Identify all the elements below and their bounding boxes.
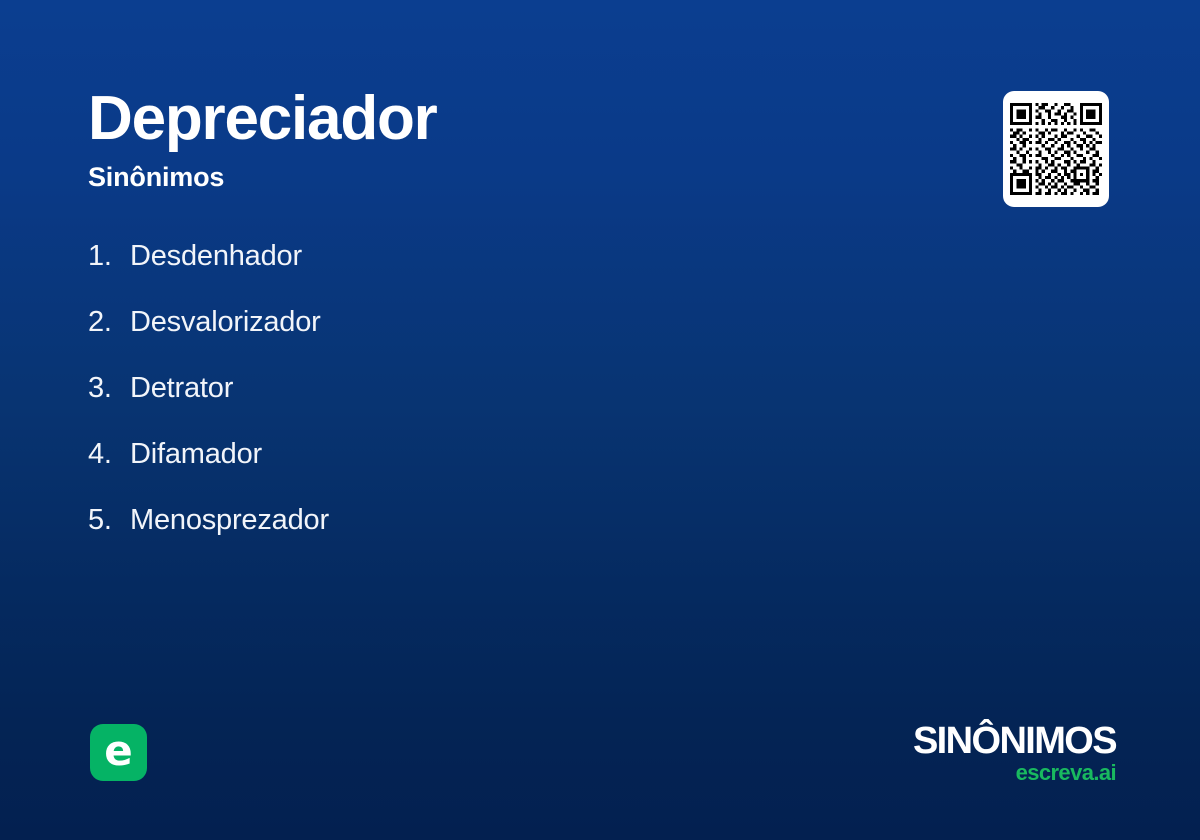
brand-logo-main: SINÔNIMOS	[913, 722, 1116, 760]
list-item-index: 4.	[88, 434, 130, 474]
page-title: Depreciador	[88, 88, 948, 150]
list-item-word: Difamador	[130, 434, 262, 474]
list-item: 2. Desvalorizador	[88, 302, 968, 368]
page-subtitle: Sinônimos	[88, 164, 948, 191]
brand-logo: SINÔNIMOS escreva.ai	[913, 722, 1116, 784]
synonym-list: 1. Desdenhador 2. Desvalorizador 3. Detr…	[88, 236, 968, 566]
qr-code-panel[interactable]	[1003, 91, 1109, 207]
list-item: 5. Menosprezador	[88, 500, 968, 566]
list-item-word: Desvalorizador	[130, 302, 321, 342]
list-item-index: 1.	[88, 236, 130, 276]
list-item-index: 3.	[88, 368, 130, 408]
list-item: 1. Desdenhador	[88, 236, 968, 302]
list-item: 3. Detrator	[88, 368, 968, 434]
list-item-index: 5.	[88, 500, 130, 540]
list-item: 4. Difamador	[88, 434, 968, 500]
list-item-word: Menosprezador	[130, 500, 329, 540]
escreva-badge-icon: e	[90, 724, 147, 781]
escreva-badge-letter: e	[104, 730, 133, 772]
brand-logo-sub: escreva.ai	[913, 762, 1116, 784]
synonym-card: Depreciador Sinônimos	[0, 0, 1200, 840]
qr-code-icon	[1010, 103, 1102, 195]
list-item-index: 2.	[88, 302, 130, 342]
list-item-word: Desdenhador	[130, 236, 302, 276]
list-item-word: Detrator	[130, 368, 233, 408]
header: Depreciador Sinônimos	[88, 88, 948, 191]
